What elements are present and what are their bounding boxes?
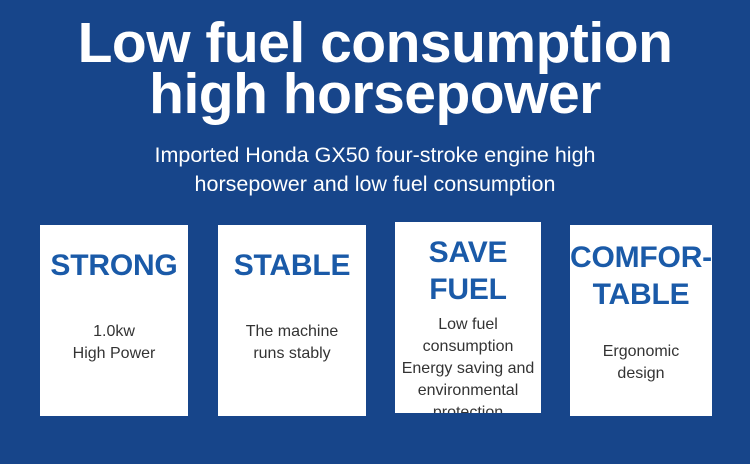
feature-card-title: SAVE FUEL: [395, 234, 541, 308]
feature-card-row: STRONG 1.0kw High Power STABLE The machi…: [0, 0, 750, 464]
feature-card-title: STABLE: [218, 247, 366, 284]
feature-card-comfortable: COMFOR- TABLE Ergonomic design: [570, 225, 712, 416]
feature-card-strong: STRONG 1.0kw High Power: [40, 225, 188, 416]
feature-card-stable: STABLE The machine runs stably: [218, 225, 366, 416]
product-feature-banner: Low fuel consumption high horsepower Imp…: [0, 0, 750, 464]
feature-card-body: 1.0kw High Power: [40, 321, 188, 365]
feature-card-body: The machine runs stably: [218, 321, 366, 365]
feature-card-body: Ergonomic design: [570, 341, 712, 385]
feature-card-title: COMFOR- TABLE: [570, 239, 712, 313]
feature-card-title: STRONG: [40, 247, 188, 284]
feature-card-body: Low fuel consumption Energy saving and e…: [395, 314, 541, 413]
feature-card-save-fuel: SAVE FUEL Low fuel consumption Energy sa…: [395, 222, 541, 413]
